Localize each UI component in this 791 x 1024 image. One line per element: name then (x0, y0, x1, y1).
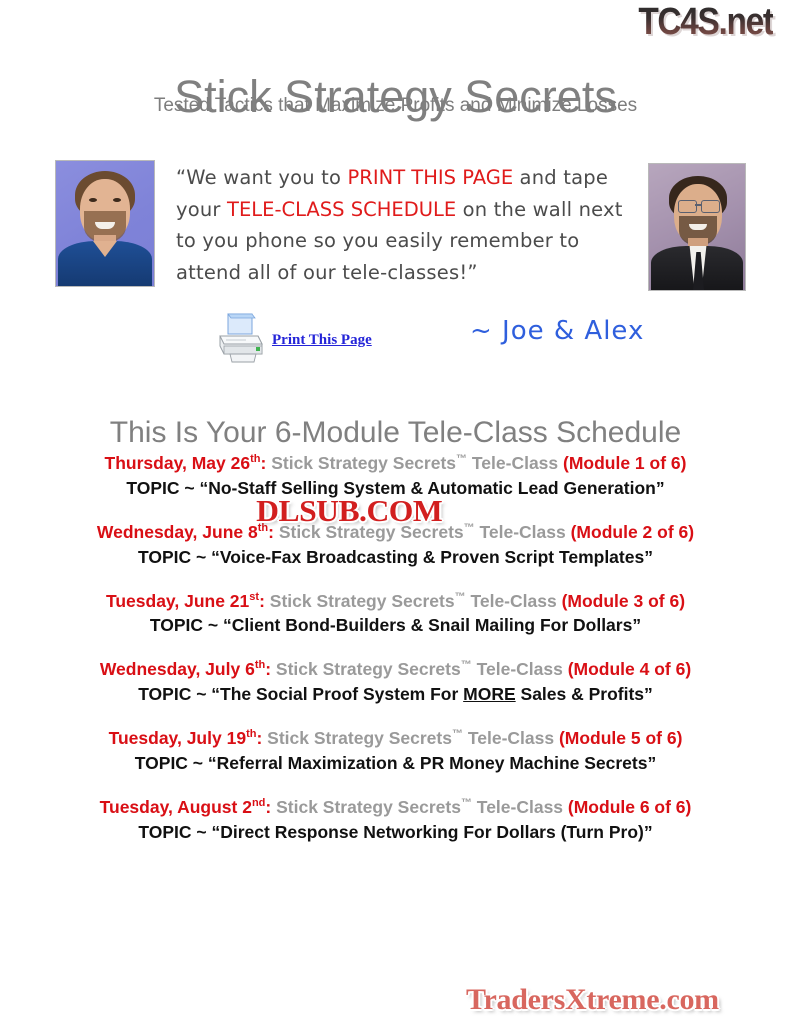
module-entry: Tuesday, June 21st: Stick Strategy Secre… (0, 586, 791, 638)
quote-emphasis-schedule: TELE-CLASS SCHEDULE (227, 198, 456, 221)
trademark-symbol: ™ (456, 453, 467, 465)
quote-text-1: “We want you to (176, 166, 348, 189)
module-teleclass-label: Tele-Class (463, 728, 559, 748)
topic-text: Referral Maximization & PR Money Machine… (217, 753, 648, 773)
module-date: Wednesday, June 8 (97, 522, 258, 542)
module-topic-line: TOPIC ~ “Direct Response Networking For … (0, 820, 791, 844)
module-date-ordinal: st (249, 591, 259, 603)
module-number: (Module 2 of 6) (571, 522, 694, 542)
module-colon: : (256, 728, 262, 748)
module-brand: Stick Strategy Secrets (270, 590, 455, 610)
photo-joe (55, 160, 155, 287)
module-date-ordinal: nd (252, 797, 265, 809)
avatar-eye-left (89, 198, 97, 202)
module-topic-line: TOPIC ~ “Voice-Fax Broadcasting & Proven… (0, 545, 791, 569)
module-date-ordinal: th (250, 453, 260, 465)
module-teleclass-label: Tele-Class (466, 590, 562, 610)
module-teleclass-label: Tele-Class (472, 659, 568, 679)
module-colon: : (265, 797, 271, 817)
module-number: (Module 1 of 6) (563, 453, 686, 473)
module-teleclass-label: Tele-Class (475, 522, 571, 542)
topic-suffix: ” (656, 478, 665, 498)
photo-alex (648, 163, 746, 291)
module-header-line: Tuesday, June 21st: Stick Strategy Secre… (0, 586, 791, 613)
avatar-eye-right (113, 198, 121, 202)
module-number: (Module 5 of 6) (559, 728, 682, 748)
avatar-glasses-right (701, 200, 720, 213)
module-date: Wednesday, July 6 (100, 659, 255, 679)
avatar-glasses-left (678, 200, 697, 213)
module-topic-line: TOPIC ~ “Referral Maximization & PR Mone… (0, 751, 791, 775)
topic-prefix: TOPIC ~ “ (126, 478, 208, 498)
module-date-ordinal: th (255, 659, 265, 671)
footer-logo: TradersXtreme.com (466, 983, 719, 1017)
trademark-symbol: ™ (464, 522, 475, 534)
module-date-ordinal: th (246, 728, 256, 740)
module-entry: Tuesday, July 19th: Stick Strategy Secre… (0, 723, 791, 775)
module-brand: Stick Strategy Secrets (276, 659, 461, 679)
trademark-symbol: ™ (452, 728, 463, 740)
testimonial-quote: “We want you to PRINT THIS PAGE and tape… (176, 162, 636, 288)
topic-suffix: ” (644, 684, 653, 704)
topic-prefix: TOPIC ~ “ (150, 615, 232, 635)
topic-text: Voice-Fax Broadcasting & Proven Script T… (220, 547, 644, 567)
topic-text: Sales & Profits (516, 684, 644, 704)
module-number: (Module 6 of 6) (568, 797, 691, 817)
module-colon: : (261, 453, 267, 473)
topic-suffix: ” (632, 615, 641, 635)
module-topic-line: TOPIC ~ “Client Bond-Builders & Snail Ma… (0, 613, 791, 637)
topic-suffix: ” (644, 547, 653, 567)
module-date: Tuesday, August 2 (100, 797, 252, 817)
topic-prefix: TOPIC ~ “ (138, 547, 220, 567)
module-colon: : (259, 590, 265, 610)
module-date: Tuesday, July 19 (109, 728, 246, 748)
module-date: Tuesday, June 21 (106, 590, 249, 610)
module-brand: Stick Strategy Secrets (276, 797, 461, 817)
watermark-dlsub: DLSUB.COM (256, 494, 442, 528)
brand-logo: TC4S.net (639, 2, 773, 42)
module-brand: Stick Strategy Secrets (271, 453, 456, 473)
topic-underlined-word: MORE (463, 684, 516, 704)
page-subtitle: Tested Tactics that Maximize Profits and… (0, 95, 791, 117)
trademark-symbol: ™ (461, 797, 472, 809)
module-header-line: Wednesday, July 6th: Stick Strategy Secr… (0, 654, 791, 681)
module-header-line: Tuesday, July 19th: Stick Strategy Secre… (0, 723, 791, 750)
topic-suffix: ” (647, 753, 656, 773)
topic-prefix: TOPIC ~ “ (138, 822, 220, 842)
module-header-line: Thursday, May 26th: Stick Strategy Secre… (0, 448, 791, 475)
module-colon: : (265, 659, 271, 679)
topic-suffix: ” (644, 822, 653, 842)
trademark-symbol: ™ (461, 659, 472, 671)
module-topic-line: TOPIC ~ “The Social Proof System For MOR… (0, 682, 791, 706)
print-this-page-link[interactable]: Print This Page (272, 332, 372, 349)
module-number: (Module 4 of 6) (568, 659, 691, 679)
trademark-symbol: ™ (455, 591, 466, 603)
topic-text: Client Bond-Builders & Snail Mailing For… (232, 615, 633, 635)
avatar-glasses-bridge (695, 204, 701, 206)
topic-text: Direct Response Networking For Dollars (… (220, 822, 644, 842)
topic-prefix: TOPIC ~ “ (135, 753, 217, 773)
module-teleclass-label: Tele-Class (467, 453, 563, 473)
module-header-line: Tuesday, August 2nd: Stick Strategy Secr… (0, 792, 791, 819)
module-entry: Tuesday, August 2nd: Stick Strategy Secr… (0, 792, 791, 844)
module-date: Thursday, May 26 (105, 453, 251, 473)
signature: ~ Joe & Alex (470, 316, 644, 346)
quote-emphasis-print: PRINT THIS PAGE (348, 166, 514, 189)
print-row: Print This Page ~ Joe & Alex (212, 310, 632, 372)
topic-prefix: TOPIC ~ “The Social Proof System For (138, 684, 463, 704)
module-entry: Wednesday, July 6th: Stick Strategy Secr… (0, 654, 791, 706)
module-number: (Module 3 of 6) (562, 590, 685, 610)
module-teleclass-label: Tele-Class (472, 797, 568, 817)
printer-icon[interactable] (212, 312, 268, 366)
module-brand: Stick Strategy Secrets (267, 728, 452, 748)
schedule-heading: This Is Your 6-Module Tele-Class Schedul… (0, 415, 791, 451)
